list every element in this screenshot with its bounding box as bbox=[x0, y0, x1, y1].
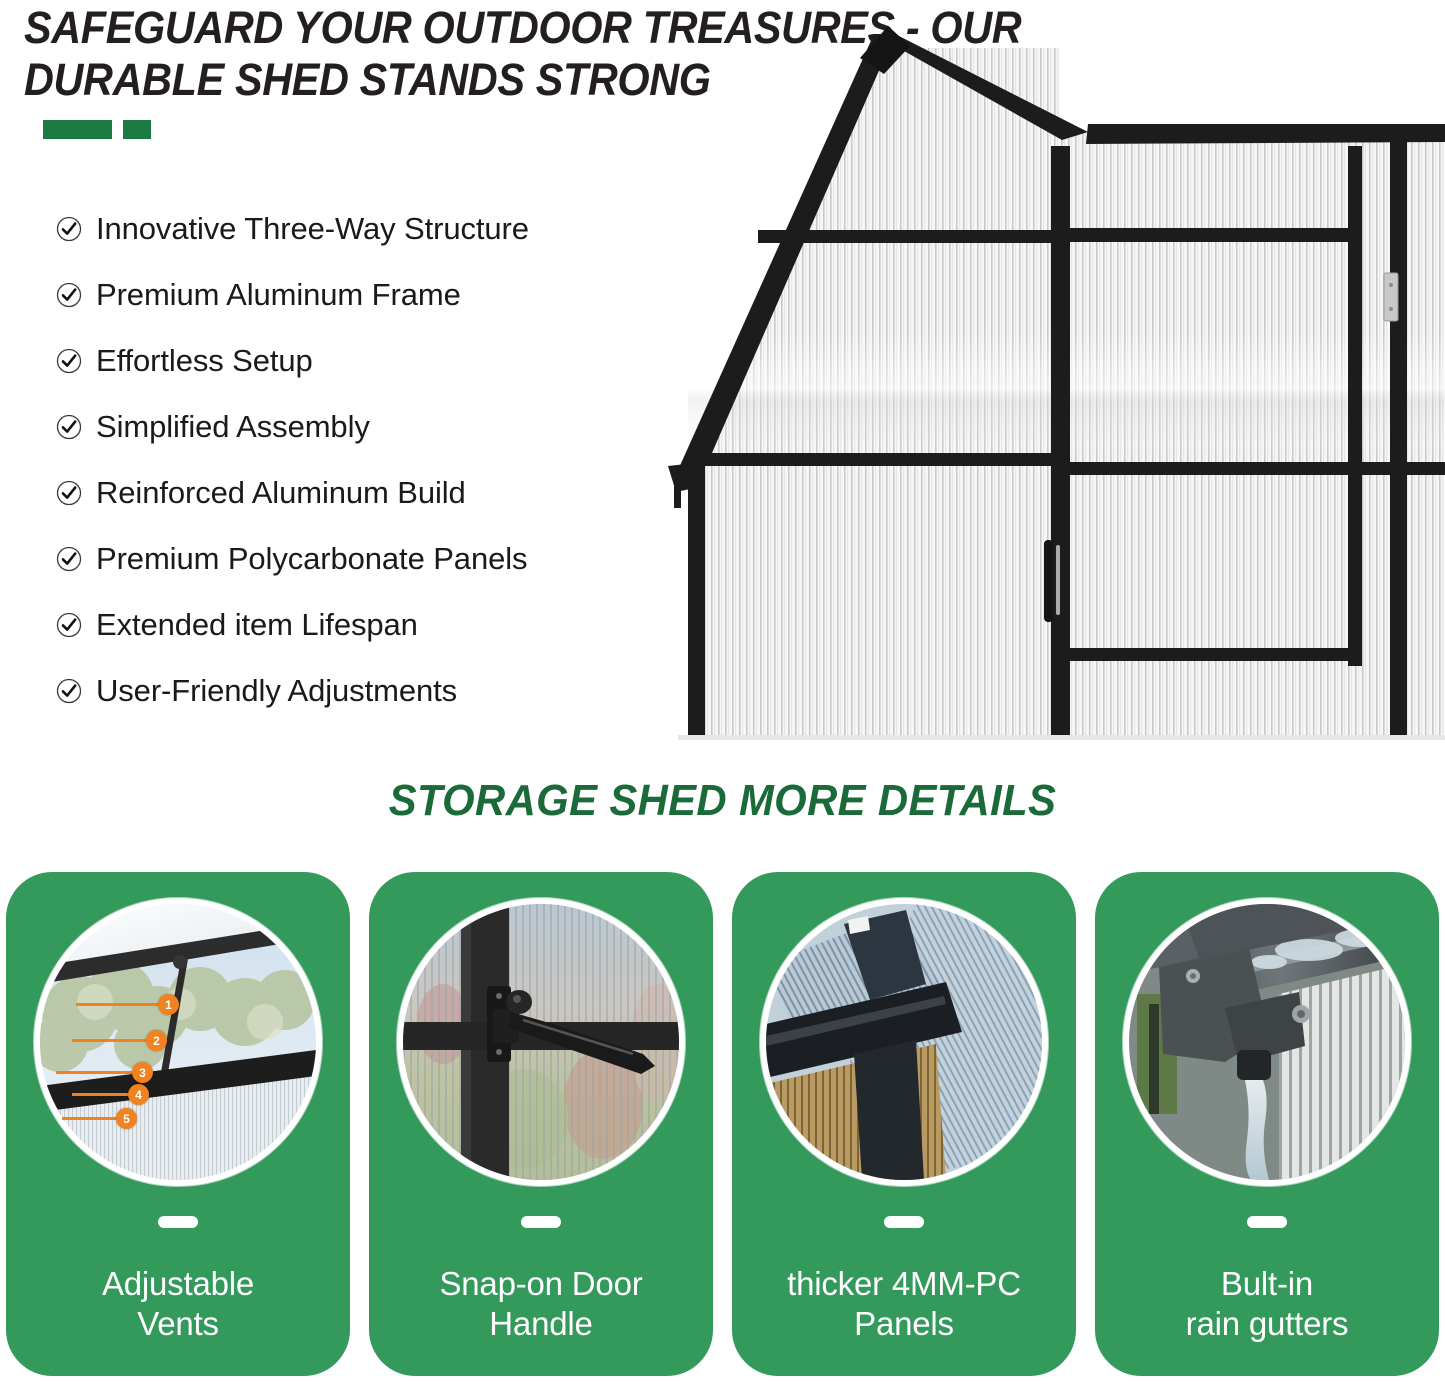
details-section-heading: STORAGE SHED MORE DETAILS bbox=[36, 776, 1409, 826]
check-circle-icon bbox=[56, 480, 82, 506]
card-photo-frame: 1 2 3 4 5 bbox=[34, 898, 322, 1186]
card-divider bbox=[1247, 1216, 1287, 1228]
check-circle-icon bbox=[56, 414, 82, 440]
feature-item: Reinforced Aluminum Build bbox=[56, 460, 696, 526]
product-feature-page: SAFEGUARD YOUR OUTDOOR TREASURES - OUR D… bbox=[0, 0, 1445, 1384]
feature-item: User-Friendly Adjustments bbox=[56, 658, 696, 724]
feature-item: Premium Aluminum Frame bbox=[56, 262, 696, 328]
feature-item: Innovative Three-Way Structure bbox=[56, 196, 696, 262]
check-circle-icon bbox=[56, 282, 82, 308]
feature-label: Reinforced Aluminum Build bbox=[96, 475, 466, 511]
card-divider bbox=[521, 1216, 561, 1228]
card-label: Bult-in rain gutters bbox=[1095, 1264, 1439, 1344]
adjustable-vent-window-photo bbox=[40, 904, 316, 1180]
feature-label: Premium Polycarbonate Panels bbox=[96, 541, 527, 577]
accent-bars bbox=[43, 120, 151, 139]
card-label: Snap-on Door Handle bbox=[369, 1264, 713, 1344]
hero-section: SAFEGUARD YOUR OUTDOOR TREASURES - OUR D… bbox=[0, 0, 1445, 765]
feature-label: Effortless Setup bbox=[96, 343, 313, 379]
accent-bar-long bbox=[43, 120, 112, 139]
detail-card[interactable]: thicker 4MM-PC Panels bbox=[732, 872, 1076, 1376]
check-circle-icon bbox=[56, 348, 82, 374]
card-divider bbox=[884, 1216, 924, 1228]
rain-gutter-downspout-photo bbox=[1129, 904, 1405, 1180]
detail-card[interactable]: Snap-on Door Handle bbox=[369, 872, 713, 1376]
feature-label: Innovative Three-Way Structure bbox=[96, 211, 529, 247]
feature-label: Extended item Lifespan bbox=[96, 607, 418, 643]
door-handle-latch-photo bbox=[403, 904, 679, 1180]
feature-item: Extended item Lifespan bbox=[56, 592, 696, 658]
card-divider bbox=[158, 1216, 198, 1228]
detail-card[interactable]: 1 2 3 4 5 Adjus bbox=[6, 872, 350, 1376]
feature-item: Effortless Setup bbox=[56, 328, 696, 394]
card-photo-frame bbox=[1123, 898, 1411, 1186]
polycarbonate-panel-edge-photo bbox=[766, 904, 1042, 1180]
card-photo-frame bbox=[760, 898, 1048, 1186]
accent-bar-short bbox=[123, 120, 151, 139]
detail-cards-row: 1 2 3 4 5 Adjus bbox=[0, 872, 1445, 1378]
card-label: thicker 4MM-PC Panels bbox=[732, 1264, 1076, 1344]
feature-list: Innovative Three-Way Structure Premium A… bbox=[56, 196, 696, 724]
check-circle-icon bbox=[56, 612, 82, 638]
card-photo-frame bbox=[397, 898, 685, 1186]
card-label: Adjustable Vents bbox=[6, 1264, 350, 1344]
check-circle-icon bbox=[56, 546, 82, 572]
feature-item: Premium Polycarbonate Panels bbox=[56, 526, 696, 592]
feature-label: Simplified Assembly bbox=[96, 409, 370, 445]
check-circle-icon bbox=[56, 216, 82, 242]
feature-item: Simplified Assembly bbox=[56, 394, 696, 460]
check-circle-icon bbox=[56, 678, 82, 704]
feature-label: User-Friendly Adjustments bbox=[96, 673, 457, 709]
detail-card[interactable]: Bult-in rain gutters bbox=[1095, 872, 1439, 1376]
shed-hero-image bbox=[648, 0, 1445, 740]
feature-label: Premium Aluminum Frame bbox=[96, 277, 461, 313]
